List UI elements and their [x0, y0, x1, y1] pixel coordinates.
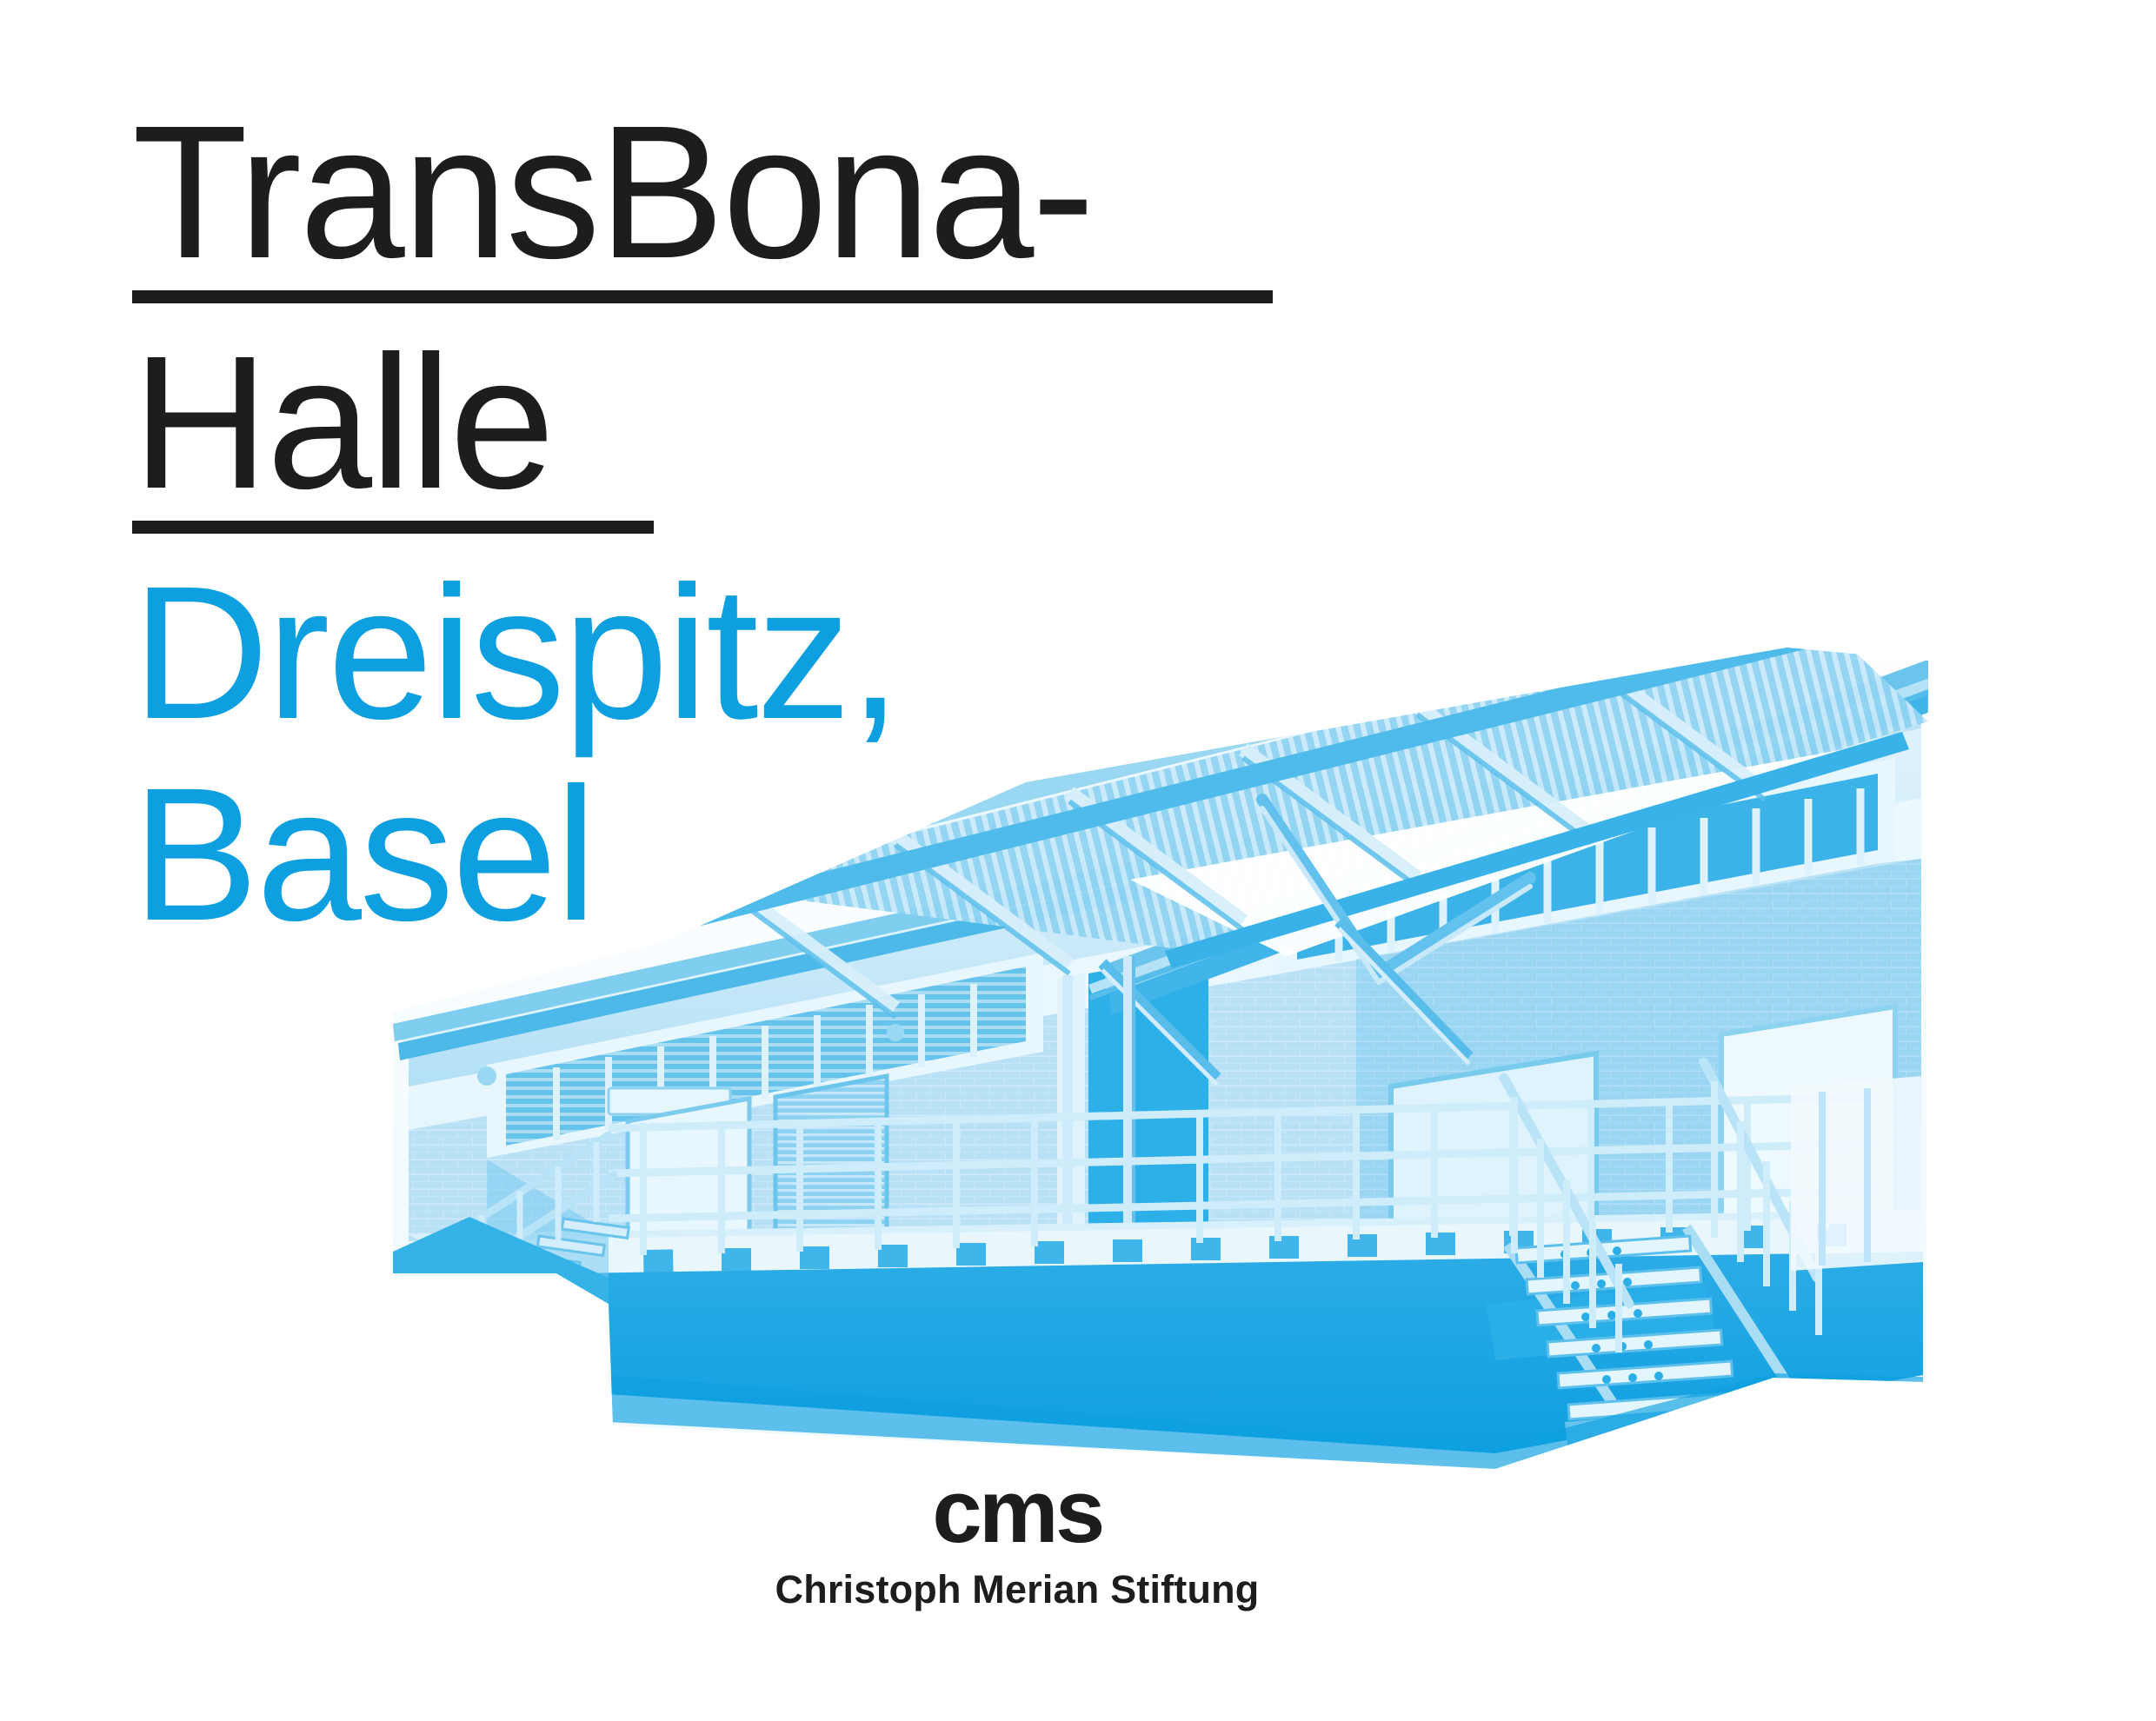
headline-line-2: Halle	[132, 333, 1273, 514]
headline-line-4: Basel	[132, 754, 899, 956]
cms-wordmark: cms	[765, 1472, 1269, 1552]
headline-line-3: Dreispitz,	[132, 553, 899, 754]
cms-foundation-name: Christoph Merian Stiftung	[765, 1565, 1269, 1614]
cms-logo: cms Christoph Merian Stiftung	[765, 1472, 1269, 1614]
headline-line-1: TransBona-	[132, 103, 1273, 283]
headline-accent: Dreispitz, Basel	[132, 553, 899, 956]
poster-canvas: TransBona- Halle Dreispitz, Basel cms Ch…	[0, 0, 2156, 1721]
headline-dark: TransBona- Halle	[132, 103, 1273, 563]
